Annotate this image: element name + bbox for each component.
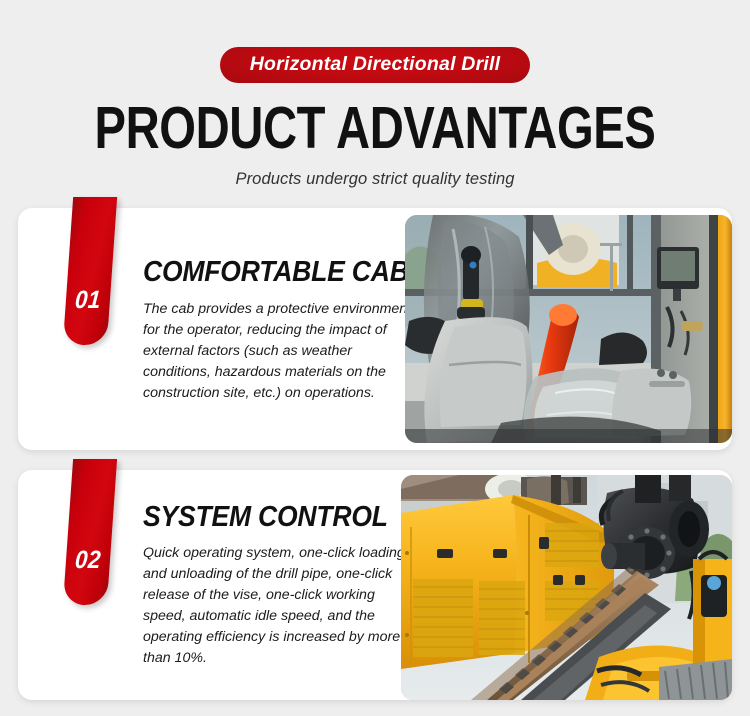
card-text-1: The cab provides a protective environmen… — [143, 299, 415, 404]
cab-interior-photo — [405, 215, 732, 443]
advantage-card-2: 02 SYSTEM CONTROL Quick operating system… — [18, 470, 732, 700]
drill-rig-photo — [401, 475, 732, 700]
card-heading-2: SYSTEM CONTROL — [143, 503, 396, 532]
page-title: PRODUCT ADVANTAGES — [75, 99, 675, 158]
number-ribbon-2: 02 — [63, 459, 117, 605]
ribbon-number-label: 02 — [67, 546, 109, 575]
page-subtitle: Products undergo strict quality testing — [0, 170, 750, 189]
product-advantages-page: Horizontal Directional Drill PRODUCT ADV… — [0, 0, 750, 716]
page-header: Horizontal Directional Drill PRODUCT ADV… — [0, 0, 750, 189]
ribbon-number-label: 01 — [67, 286, 109, 315]
card-body-1: COMFORTABLE CAB The cab provides a prote… — [143, 208, 415, 450]
advantage-card-1: 01 COMFORTABLE CAB The cab provides a pr… — [18, 208, 732, 450]
card-body-2: SYSTEM CONTROL Quick operating system, o… — [143, 470, 415, 700]
card-heading-1: COMFORTABLE CAB — [143, 258, 396, 287]
category-badge: Horizontal Directional Drill — [220, 47, 530, 83]
number-ribbon-1: 01 — [63, 197, 117, 345]
card-text-2: Quick operating system, one-click loadin… — [143, 543, 415, 669]
